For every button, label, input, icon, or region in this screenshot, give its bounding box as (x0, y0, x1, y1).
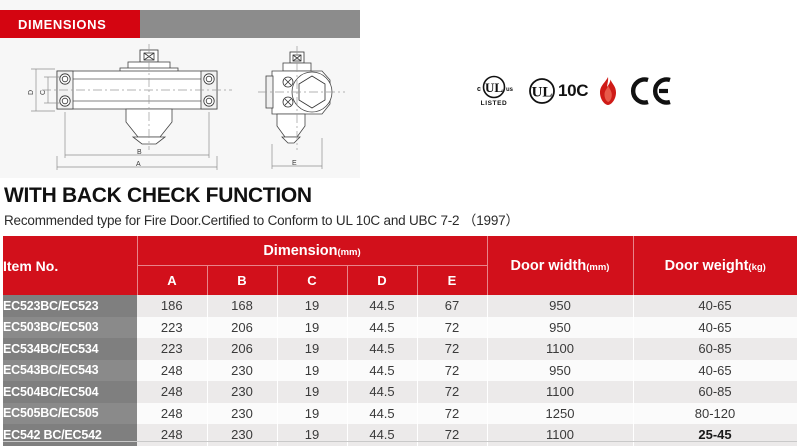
table-row: EC503BC/EC5032232061944.57295040-65 (3, 317, 797, 339)
cell-dimension-e: 67 (417, 295, 487, 317)
cell-door-weight: 40-65 (633, 317, 797, 339)
svg-text:c: c (477, 86, 481, 93)
table-row: EC504BC/EC5042482301944.572110060-85 (3, 381, 797, 403)
cell-door-width: 950 (487, 317, 633, 339)
header-dimension-label: Dimension (263, 243, 337, 259)
table-header-row-group: Item No. Dimension(mm) Door width(mm) Do… (3, 236, 797, 266)
header-door-weight-label: Door weight (665, 258, 749, 274)
header-door-weight: Door weight(kg) (633, 236, 797, 295)
cell-dimension-a: 223 (137, 338, 207, 360)
page-title: WITH BACK CHECK FUNCTION (4, 184, 312, 208)
cell-dimension-d: 44.5 (347, 317, 417, 339)
cell-dimension-d: 44.5 (347, 360, 417, 382)
dimensions-gray-bar (140, 10, 360, 38)
specifications-table: Item No. Dimension(mm) Door width(mm) Do… (3, 236, 798, 446)
cell-dimension-a: 186 (137, 295, 207, 317)
table-row: EC505BC/EC5052482301944.572125080-120 (3, 403, 797, 425)
page-subtitle: Recommended type for Fire Door.Certified… (4, 209, 519, 229)
ce-mark-icon (628, 76, 672, 106)
header-col-e: E (417, 266, 487, 296)
cell-item-no: EC542 BC/EC542 (3, 424, 137, 446)
cell-dimension-a: 248 (137, 360, 207, 382)
dimension-label-d: D (28, 90, 35, 95)
cell-door-weight: 60-85 (633, 338, 797, 360)
header-item-no: Item No. (3, 236, 137, 295)
cell-dimension-b: 168 (207, 295, 277, 317)
cell-dimension-c: 19 (277, 360, 347, 382)
cell-item-no: EC505BC/EC505 (3, 403, 137, 425)
cell-dimension-e: 72 (417, 360, 487, 382)
dimension-label-c: C (40, 90, 47, 95)
cell-dimension-c: 19 (277, 403, 347, 425)
cell-dimension-d: 44.5 (347, 424, 417, 446)
cell-dimension-d: 44.5 (347, 295, 417, 317)
cell-dimension-d: 44.5 (347, 338, 417, 360)
header-col-b: B (207, 266, 277, 296)
cell-door-weight: 80-120 (633, 403, 797, 425)
cell-dimension-a: 248 (137, 381, 207, 403)
cell-dimension-a: 248 (137, 403, 207, 425)
svg-text:us: us (506, 87, 514, 93)
header-item-no-label: Item No. (3, 258, 58, 274)
product-technical-drawing: D C B A E (0, 38, 360, 178)
table-header: Item No. Dimension(mm) Door width(mm) Do… (3, 236, 797, 295)
cell-door-weight: 25-45 (633, 424, 797, 446)
ul-10c-label: 10C (558, 81, 588, 101)
table-row: EC523BC/EC5231861681944.56795040-65 (3, 295, 797, 317)
table-body: EC523BC/EC5231861681944.56795040-65EC503… (3, 295, 797, 446)
cell-dimension-b: 206 (207, 317, 277, 339)
cell-door-width: 1250 (487, 403, 633, 425)
cell-item-no: EC534BC/EC534 (3, 338, 137, 360)
cell-dimension-d: 44.5 (347, 403, 417, 425)
cell-door-width: 950 (487, 295, 633, 317)
table-row: EC543BC/EC5432482301944.57295040-65 (3, 360, 797, 382)
ul-listed-icon: UL c us LISTED (468, 73, 520, 109)
cell-door-weight: 60-85 (633, 381, 797, 403)
svg-text:UL: UL (485, 80, 503, 95)
cell-dimension-b: 230 (207, 360, 277, 382)
dimension-label-e-side: E (292, 160, 297, 167)
svg-text:UL: UL (532, 85, 553, 101)
cell-dimension-e: 72 (417, 317, 487, 339)
cell-item-no: EC543BC/EC543 (3, 360, 137, 382)
door-closer-drawing-svg: D C B A E (0, 38, 360, 178)
header-door-width-label: Door width (511, 258, 587, 274)
cell-dimension-e: 72 (417, 403, 487, 425)
dimensions-panel: DIMENSIONS (0, 0, 360, 178)
cell-dimension-b: 230 (207, 424, 277, 446)
cell-door-weight: 40-65 (633, 295, 797, 317)
cell-dimension-c: 19 (277, 424, 347, 446)
cell-dimension-e: 72 (417, 381, 487, 403)
cell-door-width: 1100 (487, 381, 633, 403)
certification-marks: UL c us LISTED UL 10C (468, 68, 678, 114)
cell-dimension-e: 72 (417, 424, 487, 446)
cell-door-weight: 40-65 (633, 360, 797, 382)
cell-dimension-b: 206 (207, 338, 277, 360)
dimensions-header-row: DIMENSIONS (0, 10, 360, 38)
cell-dimension-d: 44.5 (347, 381, 417, 403)
cell-door-width: 1100 (487, 338, 633, 360)
cell-dimension-b: 230 (207, 403, 277, 425)
cell-dimension-c: 19 (277, 381, 347, 403)
header-door-width-unit: (mm) (586, 262, 609, 273)
ul-circle-icon: UL (528, 77, 556, 105)
header-col-c: C (277, 266, 347, 296)
header-dimension-unit: (mm) (337, 247, 360, 258)
dimension-label-a: A (136, 161, 141, 168)
cell-dimension-e: 72 (417, 338, 487, 360)
cell-item-no: EC503BC/EC503 (3, 317, 137, 339)
ul-10c-mark: UL 10C (528, 77, 588, 105)
header-door-width: Door width(mm) (487, 236, 633, 295)
dimensions-tab-label: DIMENSIONS (0, 10, 140, 38)
cell-dimension-a: 223 (137, 317, 207, 339)
header-col-d: D (347, 266, 417, 296)
flame-icon (596, 76, 620, 106)
cell-dimension-c: 19 (277, 295, 347, 317)
cell-item-no: EC523BC/EC523 (3, 295, 137, 317)
dimension-label-b: B (137, 149, 142, 156)
cell-dimension-a: 248 (137, 424, 207, 446)
cell-item-no: EC504BC/EC504 (3, 381, 137, 403)
svg-text:LISTED: LISTED (481, 100, 508, 107)
cell-door-width: 1100 (487, 424, 633, 446)
cell-dimension-c: 19 (277, 317, 347, 339)
cell-dimension-c: 19 (277, 338, 347, 360)
table-row: EC534BC/EC5342232061944.572110060-85 (3, 338, 797, 360)
table-row: EC542 BC/EC5422482301944.572110025-45 (3, 424, 797, 446)
header-col-a: A (137, 266, 207, 296)
header-door-weight-unit: (kg) (748, 262, 765, 273)
table-bottom-divider (3, 441, 797, 442)
cell-door-width: 950 (487, 360, 633, 382)
cell-dimension-b: 230 (207, 381, 277, 403)
header-dimension-group: Dimension(mm) (137, 236, 487, 266)
